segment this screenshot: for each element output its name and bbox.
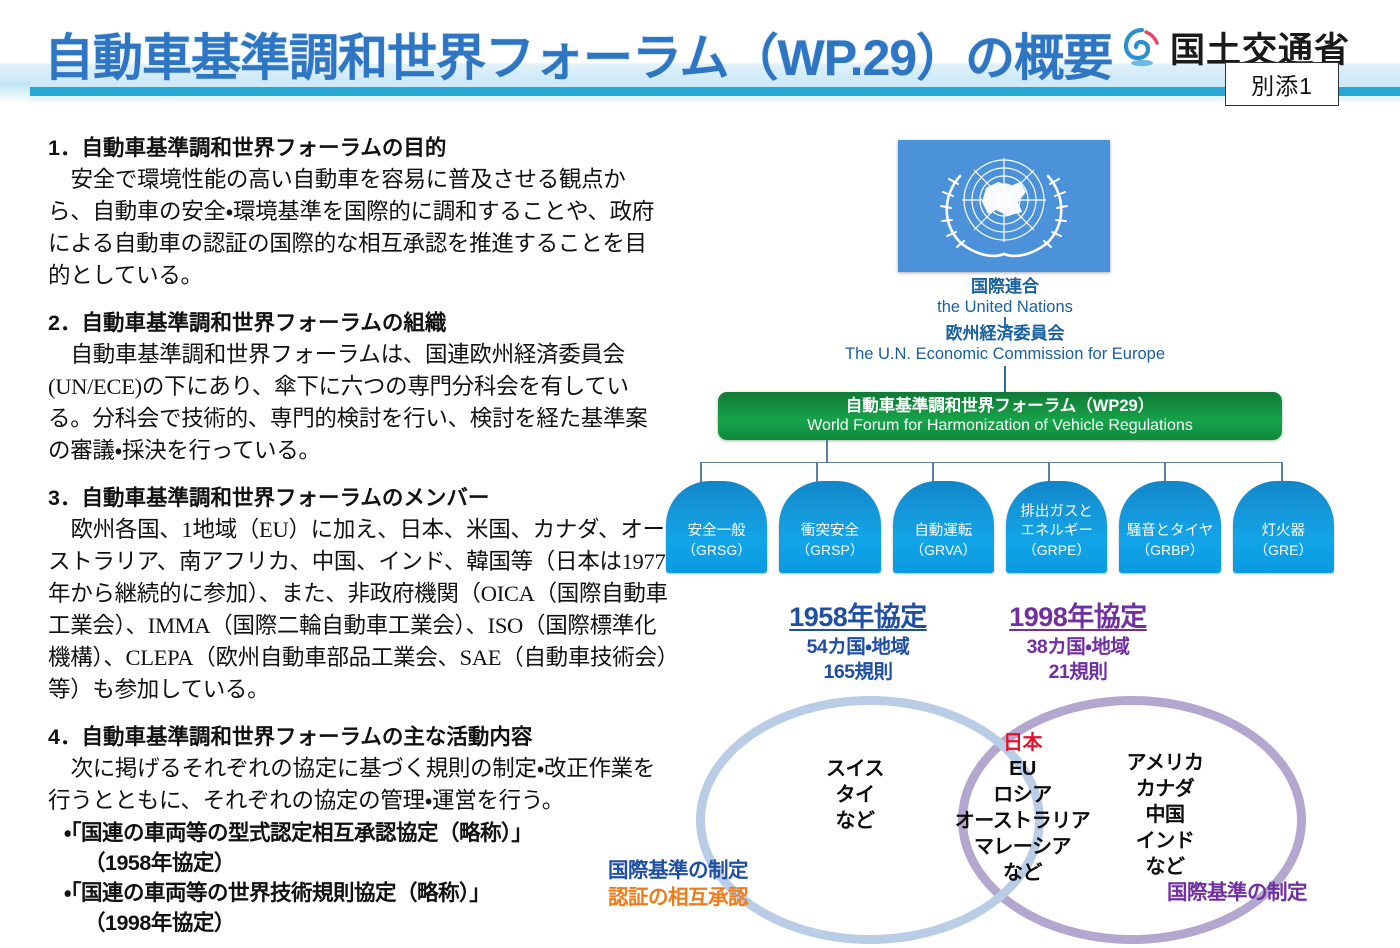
un-label-en: the United Nations: [830, 297, 1180, 318]
header-stripe-fade: [30, 96, 1400, 101]
section-3: 3．自動車基準調和世界フォーラムのメンバー 欧州各国、1地域（EU）に加え、日本…: [48, 482, 668, 706]
agreement-1958-rules: 165規則: [748, 660, 968, 685]
wp-code-4: （GRPE）: [1023, 541, 1091, 559]
section-4-body: 次に掲げるそれぞれの協定に基づく規則の制定・改正作業を行うとともに、それぞれの協…: [48, 753, 668, 817]
page-title: 自動車基準調和世界フォーラム（WP.29）の概要: [44, 18, 1112, 90]
wp-label-jp-2: 衝突安全: [801, 522, 859, 541]
section-2: 2．自動車基準調和世界フォーラムの組織 自動車基準調和世界フォーラムは、国連欧州…: [48, 307, 668, 467]
section-1-body: 安全で環境性能の高い自動車を容易に普及させる観点から、自動車の安全・環境基準を国…: [48, 164, 668, 292]
mlit-logo-icon: [1122, 27, 1162, 69]
venn-right-members: アメリカ カナダ 中国 インド など: [1070, 750, 1260, 880]
un-label-jp: 国際連合: [830, 276, 1180, 297]
working-party-grsg[interactable]: 安全一般 （GRSG）: [666, 481, 767, 573]
wp-label-jp-6: 灯火器: [1262, 522, 1306, 541]
connector-ece-to-wp29: [1004, 366, 1006, 392]
caption-left: 国際基準の制定 認証の相互承認: [608, 858, 748, 911]
attachment-badge: 別添1: [1225, 62, 1339, 106]
working-party-grbp[interactable]: 騒音とタイヤ （GRBP）: [1119, 481, 1220, 573]
section-2-title: 2．自動車基準調和世界フォーラムの組織: [48, 307, 668, 339]
ece-label-jp: 欧州経済委員会: [805, 323, 1205, 344]
slide-root: 自動車基準調和世界フォーラム（WP.29）の概要 国土交通省 別添1 1．自動車…: [0, 0, 1400, 948]
wp-code-1: （GRSG）: [682, 541, 751, 559]
section-4-title: 4．自動車基準調和世界フォーラムの主な活動内容: [48, 721, 668, 753]
section-4: 4．自動車基準調和世界フォーラムの主な活動内容 次に掲げるそれぞれの協定に基づく…: [48, 721, 668, 939]
section-3-body: 欧州各国、1地域（EU）に加え、日本、米国、カナダ、オーストラリア、南アフリカ、…: [48, 514, 668, 706]
un-flag-icon: [898, 140, 1110, 272]
ece-caption: 欧州経済委員会 The U.N. Economic Commission for…: [805, 323, 1205, 365]
wp-label-jp-3: 自動運転: [914, 522, 972, 541]
bullet-2-sub: （1998年協定）: [64, 908, 668, 938]
wp29-label-en: World Forum for Harmonization of Vehicle…: [807, 416, 1193, 436]
working-party-grsp[interactable]: 衝突安全 （GRSP）: [779, 481, 880, 573]
venn-left-members: スイス タイ など: [760, 756, 950, 834]
bullet-1-main: ・「国連の車両等の型式認定相互承認協定（略称）」: [64, 818, 668, 848]
section-1-title: 1．自動車基準調和世界フォーラムの目的: [48, 132, 668, 164]
agreement-1958: 1958年協定 54カ国・地域 165規則: [748, 600, 968, 684]
section-2-body: 自動車基準調和世界フォーラムは、国連欧州経済委員会(UN/ECE)の下にあり、傘…: [48, 339, 668, 467]
wp-label-jp-4: 排出ガスと エネルギー: [1020, 503, 1093, 541]
caption-left-line1: 国際基準の制定: [608, 858, 748, 885]
agreement-1958-title: 1958年協定: [748, 600, 968, 635]
working-party-gre[interactable]: 灯火器 （GRE）: [1233, 481, 1334, 573]
wp29-label-jp: 自動車基準調和世界フォーラム（WP29）: [846, 396, 1154, 417]
agreement-1998-rules: 21規則: [968, 660, 1188, 685]
wp-label-jp-5: 騒音とタイヤ: [1127, 522, 1214, 541]
section-1: 1．自動車基準調和世界フォーラムの目的 安全で環境性能の高い自動車を容易に普及さ…: [48, 132, 668, 292]
wp-code-3: （GRVA）: [910, 541, 976, 559]
tree-stem: [826, 440, 828, 462]
agreement-1998-title: 1998年協定: [968, 600, 1188, 635]
caption-left-line2: 認証の相互承認: [608, 885, 748, 912]
working-party-grpe[interactable]: 排出ガスと エネルギー （GRPE）: [1006, 481, 1107, 573]
wp29-box: 自動車基準調和世界フォーラム（WP29） World Forum for Har…: [718, 392, 1282, 440]
working-party-grva[interactable]: 自動運転 （GRVA）: [893, 481, 994, 573]
bullet-1-sub: （1958年協定）: [64, 848, 668, 878]
section-4-bullets: ・「国連の車両等の型式認定相互承認協定（略称）」 （1958年協定） ・「国連の…: [48, 818, 668, 938]
wp-code-5: （GRBP）: [1136, 541, 1204, 559]
wp-code-6: （GRE）: [1254, 541, 1312, 559]
wp-code-2: （GRSP）: [796, 541, 864, 559]
working-party-row: 安全一般 （GRSG） 衝突安全 （GRSP） 自動運転 （GRVA） 排出ガス…: [666, 481, 1334, 573]
caption-right: 国際基準の制定: [1167, 875, 1307, 905]
section-3-title: 3．自動車基準調和世界フォーラムのメンバー: [48, 482, 668, 514]
agreement-1998: 1998年協定 38カ国・地域 21規則: [968, 600, 1188, 684]
left-text-column: 1．自動車基準調和世界フォーラムの目的 安全で環境性能の高い自動車を容易に普及さ…: [48, 132, 668, 948]
tree-horizontal-connector: [700, 462, 1282, 463]
wp-label-jp-1: 安全一般: [688, 522, 746, 541]
un-caption: 国際連合 the United Nations: [830, 276, 1180, 318]
agreement-1998-countries: 38カ国・地域: [968, 635, 1188, 660]
bullet-2-main: ・「国連の車両等の世界技術規則協定（略称）」: [64, 878, 668, 908]
ece-label-en: The U.N. Economic Commission for Europe: [805, 344, 1205, 365]
agreement-1958-countries: 54カ国・地域: [748, 635, 968, 660]
